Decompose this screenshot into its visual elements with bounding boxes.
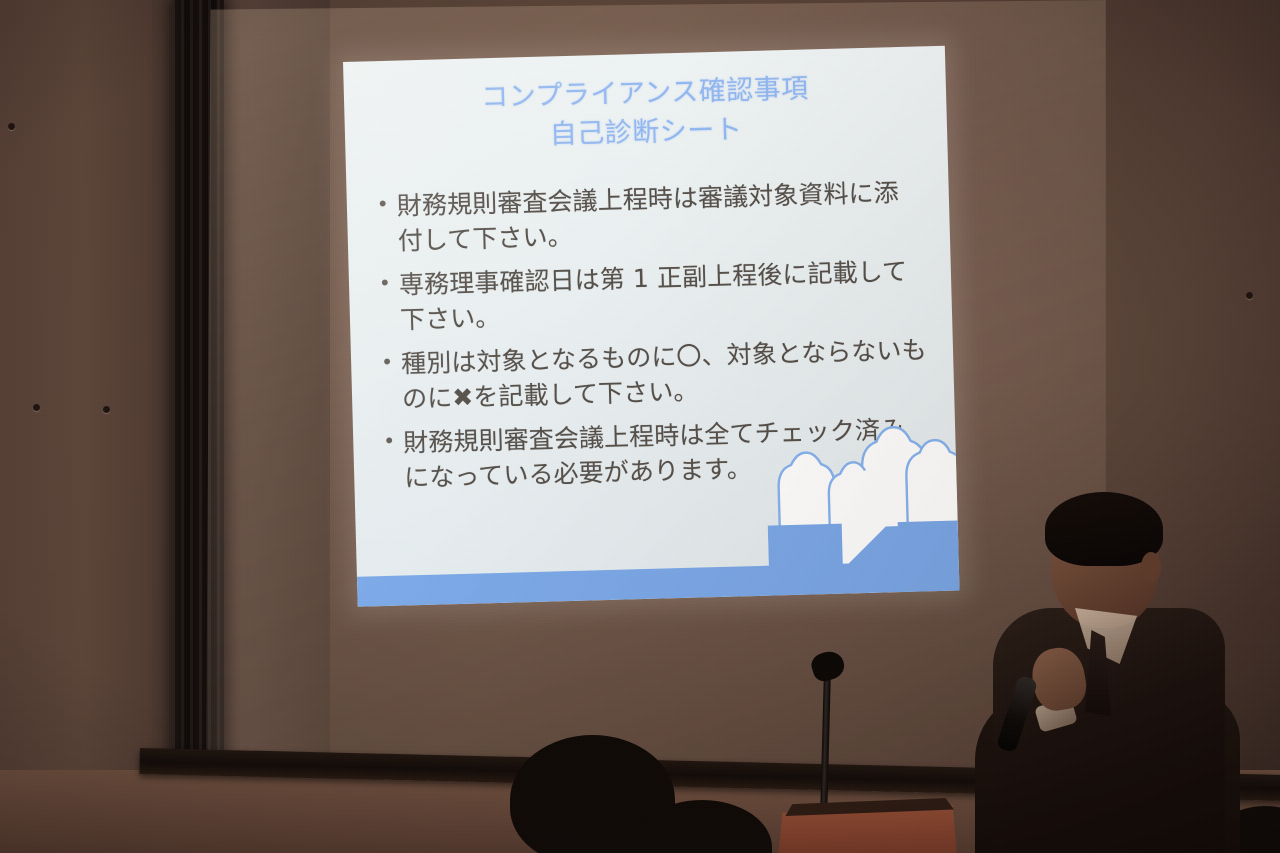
slide-bullet-list: • 財務規則審査会議上程時は審議対象資料に添付して下さい。 • 専務理事確認日は… (376, 174, 930, 505)
bullet-text: 専務理事確認日は第 1 正副上程後に記載して下さい。 (399, 253, 927, 337)
list-item: • 種別は対象となるものに〇、対象とならないものに✖を記載して下さい。 (381, 332, 929, 417)
wall-hook (1246, 292, 1253, 299)
presenter-ear (1141, 552, 1161, 582)
wall-hook (103, 406, 110, 413)
bullet-text: 財務規則審査会議上程時は全てチェック済みになっている必要があります。 (403, 411, 931, 495)
bullet-marker-icon: • (383, 426, 404, 457)
wall-left-panel (0, 0, 152, 853)
bullet-text: 財務規則審査会議上程時は審議対象資料に添付して下さい。 (396, 174, 924, 258)
wall-hook (33, 404, 40, 411)
presentation-slide: コンプライアンス確認事項 自己診断シート • 財務規則審査会議上程時は審議対象資… (343, 46, 960, 607)
bullet-marker-icon: • (381, 347, 402, 378)
slide-title: コンプライアンス確認事項 自己診断シート (344, 66, 948, 161)
presenter-speaker (955, 490, 1245, 853)
bullet-marker-icon: • (379, 268, 400, 299)
list-item: • 専務理事確認日は第 1 正副上程後に記載して下さい。 (379, 253, 927, 338)
bullet-text: 種別は対象となるものに〇、対象とならないものに✖を記載して下さい。 (401, 332, 929, 416)
list-item: • 財務規則審査会議上程時は全てチェック済みになっている必要があります。 (383, 411, 931, 496)
list-item: • 財務規則審査会議上程時は審議対象資料に添付して下さい。 (376, 174, 924, 259)
presentation-photo: コンプライアンス確認事項 自己診断シート • 財務規則審査会議上程時は審議対象資… (0, 0, 1280, 853)
wall-hook (8, 123, 15, 130)
bullet-marker-icon: • (376, 189, 397, 220)
